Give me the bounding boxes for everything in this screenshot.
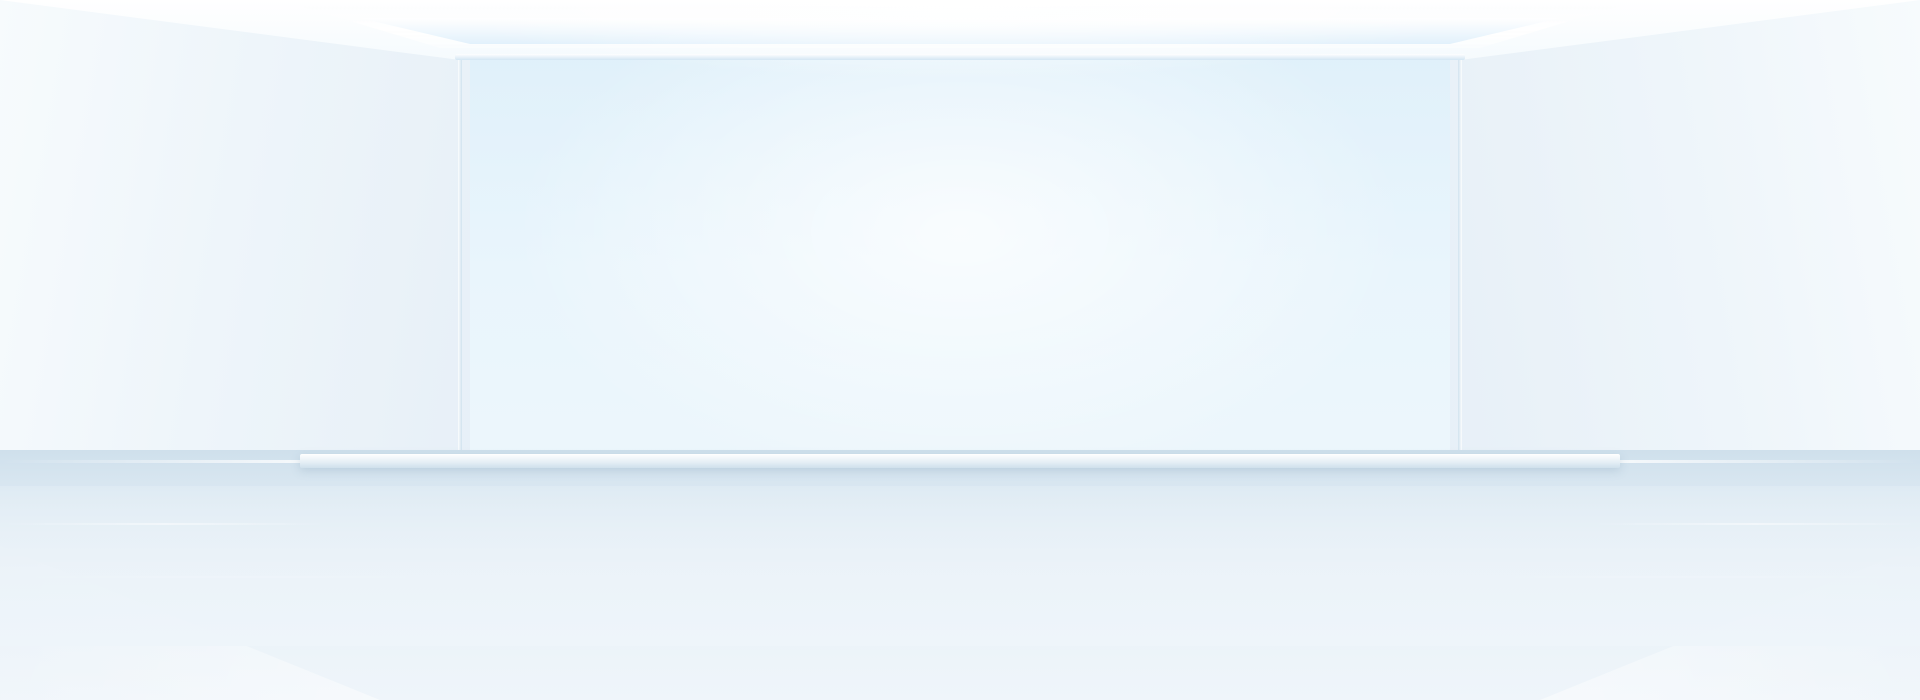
ceiling-edge-trim (455, 54, 1465, 60)
certificate-row (0, 226, 1920, 486)
certificate-banner (0, 0, 1920, 700)
ceiling-glow (430, 0, 1490, 80)
reflection-fade-mask (0, 486, 1920, 646)
